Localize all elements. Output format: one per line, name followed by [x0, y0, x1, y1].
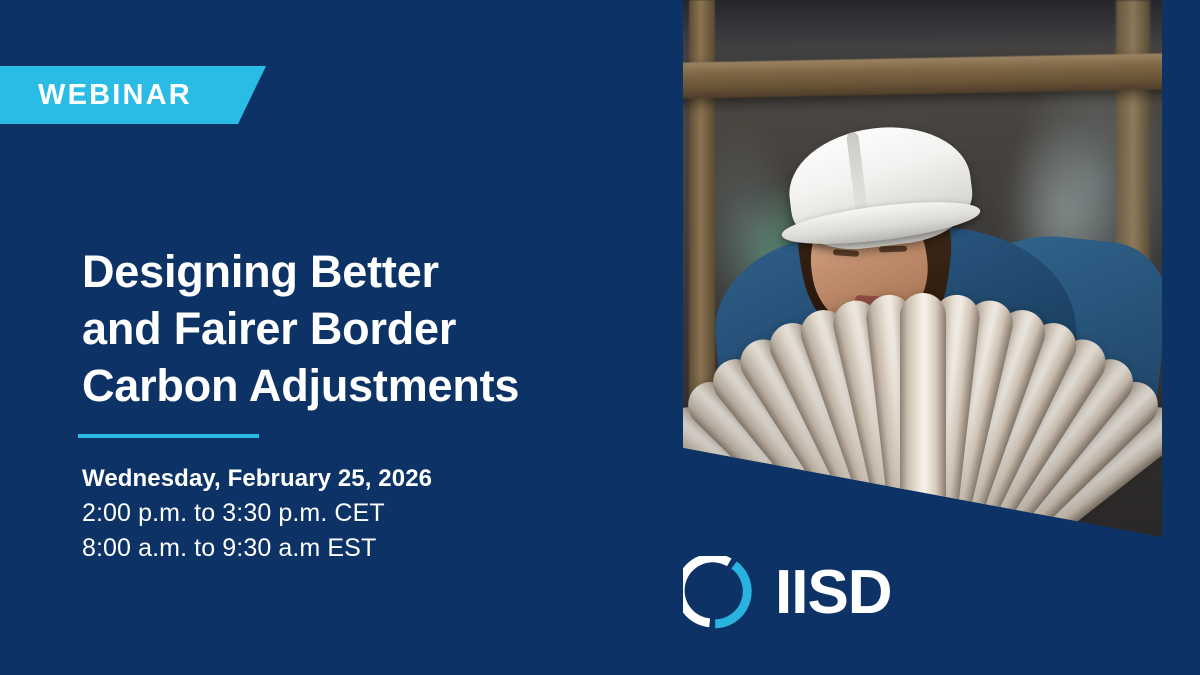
webinar-promo-card: WEBINAR Designing Better and Fairer Bord… — [0, 0, 1200, 675]
webinar-badge-label: WEBINAR — [38, 79, 192, 112]
title-line-1: Designing Better — [82, 243, 642, 300]
title-line-2: and Fairer Border — [82, 300, 642, 357]
iisd-ring-icon — [683, 556, 757, 630]
webinar-badge: WEBINAR — [0, 66, 266, 124]
event-schedule: Wednesday, February 25, 2026 2:00 p.m. t… — [82, 462, 432, 566]
event-time-cet: 2:00 p.m. to 3:30 p.m. CET — [82, 496, 432, 531]
worker-brow-right — [879, 246, 907, 253]
page-title: Designing Better and Fairer Border Carbo… — [82, 243, 642, 414]
pipe-bundle — [683, 303, 1162, 537]
title-line-3: Carbon Adjustments — [82, 357, 642, 414]
event-time-est: 8:00 a.m. to 9:30 a.m EST — [82, 531, 432, 566]
hero-photo — [683, 0, 1162, 537]
pipe — [900, 293, 946, 537]
iisd-wordmark: IISD — [775, 562, 892, 624]
accent-divider — [78, 434, 259, 438]
iisd-logo: IISD — [683, 556, 892, 630]
event-date: Wednesday, February 25, 2026 — [82, 462, 432, 496]
